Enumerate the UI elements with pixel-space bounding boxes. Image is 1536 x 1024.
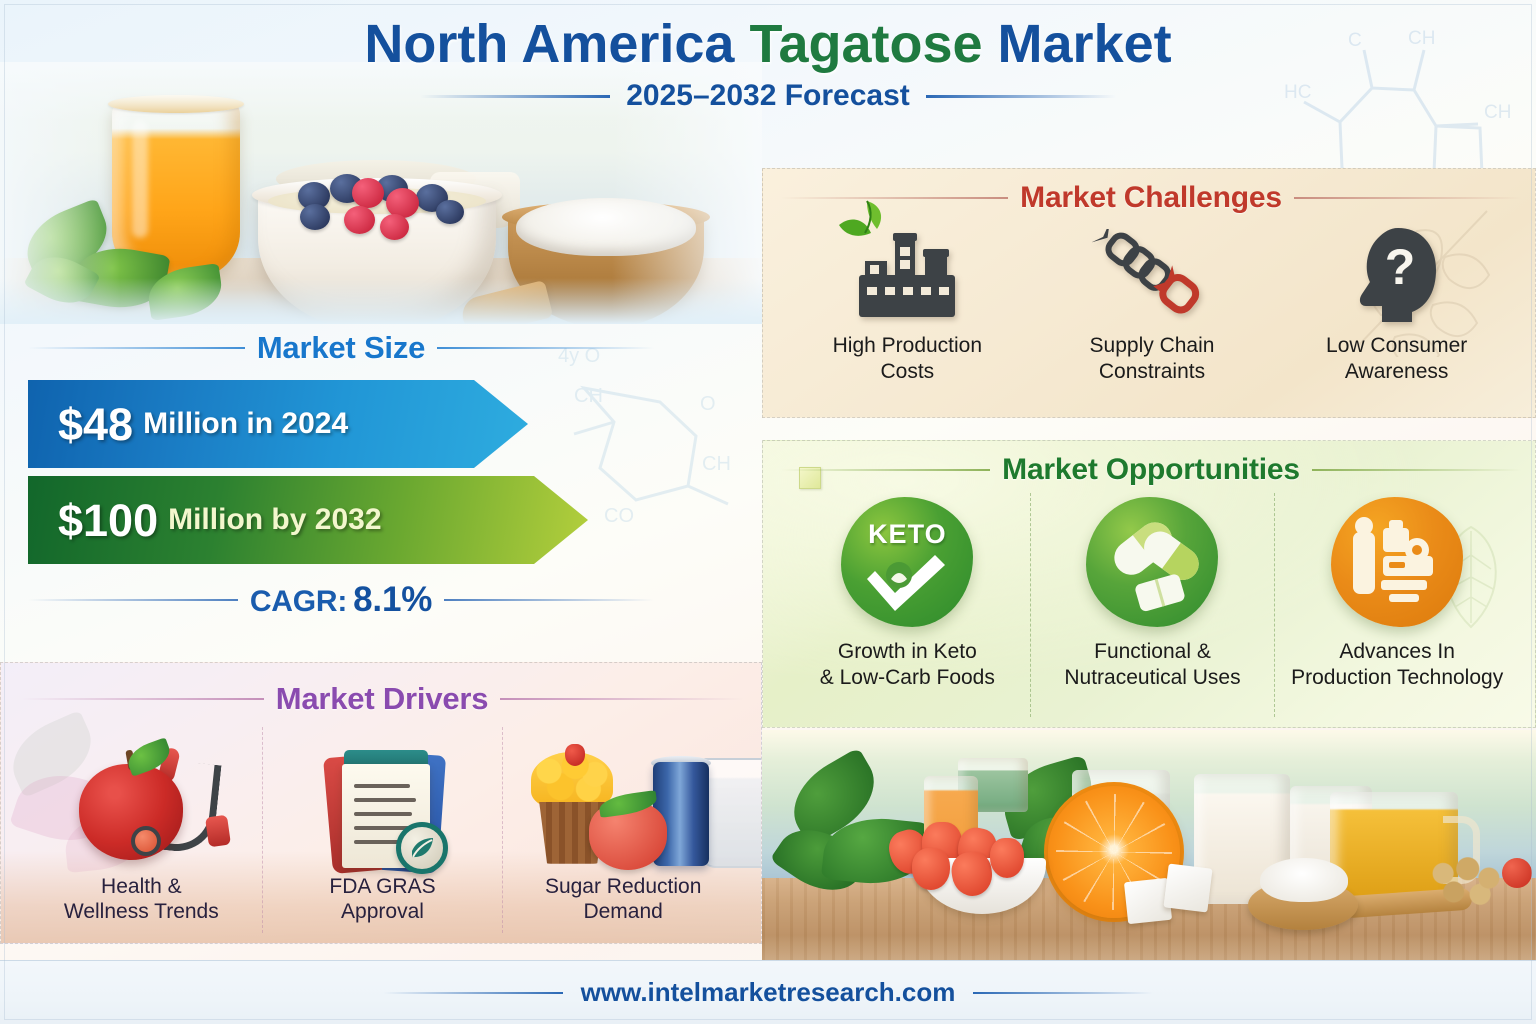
opportunity-item[interactable]: KETO Growth in Keto & Low-Carb Foods (785, 493, 1030, 717)
opportunity-label: Growth in Keto & Low-Carb Foods (820, 639, 995, 692)
market-challenges-items: High Production Costs (785, 223, 1519, 405)
glass-highlight (132, 120, 148, 238)
opportunity-label: Advances In Production Technology (1291, 639, 1503, 692)
heading-rule-left (21, 698, 264, 700)
leaf-check-glyph (409, 835, 435, 861)
driver-item[interactable]: FDA GRAS Approval (262, 727, 503, 933)
raspberry-icon (380, 214, 409, 240)
raspberry-icon (344, 206, 375, 234)
driver-label: Health & Wellness Trends (64, 874, 219, 925)
heading-rule-right (437, 347, 654, 349)
broken-chain-icon (1092, 229, 1212, 321)
raspberry-icon (352, 178, 384, 208)
chem-label-c: C (1348, 30, 1362, 51)
chem-label-ch-top: CH (1408, 28, 1435, 49)
stethoscope-chestpiece (131, 826, 161, 856)
opportunity-art: KETO (841, 497, 973, 627)
driver-item[interactable]: Health & Wellness Trends (21, 727, 262, 933)
footer-bar: www.intelmarketresearch.com (0, 960, 1536, 1024)
production-equipment-icon (1331, 497, 1463, 627)
challenge-item[interactable]: High Production Costs (785, 223, 1030, 405)
sweetener-powder (1260, 858, 1348, 902)
apple-stethoscope-icon (21, 740, 262, 874)
driver-item[interactable]: Sugar Reduction Demand (502, 727, 743, 933)
challenge-label: Supply Chain Constraints (1090, 333, 1215, 386)
title-part-market: Market (983, 14, 1172, 74)
opportunity-art (1086, 497, 1218, 627)
challenge-art (785, 223, 1030, 327)
market-drivers-panel: Market Drivers Health & Wellness Trends (0, 662, 762, 944)
bar-2024-value: $48 (58, 402, 133, 447)
market-size-bar-2032: $100 Million by 2032 (28, 476, 588, 564)
cagr-label: CAGR: (250, 585, 347, 619)
challenge-item[interactable]: ? Low Consumer Awareness (1274, 223, 1519, 405)
bar-2032-label: Million by 2032 (168, 505, 381, 535)
strawberry-icon (990, 838, 1024, 878)
keto-badge-text: KETO (841, 519, 973, 550)
pills-glyph (1097, 509, 1207, 615)
cagr-block: CAGR: 8.1% (250, 580, 432, 620)
challenge-art (1030, 223, 1275, 327)
market-size-bars: $48 Million in 2024 $100 Million by 2032 (28, 380, 654, 564)
opportunity-art (1331, 497, 1463, 627)
cupcake-soda-icon (503, 740, 743, 874)
chem-label-hc: HC (1284, 82, 1311, 103)
title-part-product: Tagatose (749, 14, 982, 74)
market-size-section: Market Size $48 Million in 2024 $100 Mil… (28, 330, 654, 620)
market-size-heading-row: Market Size (28, 330, 654, 366)
cagr-rule-left (28, 599, 238, 601)
market-challenges-panel: Market Challenges (762, 168, 1536, 418)
heading-rule-left (781, 469, 990, 471)
driver-label: Sugar Reduction Demand (545, 874, 701, 925)
bar-2024-label: Million in 2024 (143, 409, 348, 439)
equipment-glyph (1345, 514, 1449, 610)
challenge-item[interactable]: Supply Chain Constraints (1030, 223, 1275, 405)
keto-badge-icon: KETO (841, 497, 973, 627)
chem-label-ch3: CH (702, 453, 731, 475)
challenge-label: High Production Costs (833, 333, 982, 386)
footer-website-url[interactable]: www.intelmarketresearch.com (581, 977, 956, 1008)
infographic-canvas: HC C CH CH N CH 4y O CH O CH CO (0, 0, 1536, 1024)
market-opportunities-items: KETO Growth in Keto & Low-Carb Foods (785, 493, 1519, 717)
subtitle-rule-right (926, 95, 1116, 98)
heading-rule-left (28, 347, 245, 349)
market-size-heading: Market Size (257, 330, 425, 366)
sugar-cube-icon (1163, 863, 1212, 912)
approval-seal-icon (396, 822, 448, 874)
nuts-icon (1422, 856, 1510, 914)
market-opportunities-panel: Market Opportunities KETO Growth in Keto… (762, 440, 1536, 728)
heading-rule-left (781, 197, 1008, 199)
chem-label-ch-right: CH (1484, 102, 1511, 123)
hero-food-photo (0, 62, 762, 324)
opportunity-label: Functional & Nutraceutical Uses (1064, 639, 1240, 692)
bar-2032-value: $100 (58, 498, 158, 543)
market-size-bar-2024: $48 Million in 2024 (28, 380, 528, 468)
blueberry-icon (300, 204, 330, 230)
stethoscope-earpiece (205, 814, 231, 847)
challenge-label: Low Consumer Awareness (1326, 333, 1467, 386)
ingredients-food-photo (762, 730, 1536, 960)
photo-fade-bottom (0, 278, 762, 324)
market-drivers-heading: Market Drivers (276, 681, 489, 717)
cupcake-cherry (565, 744, 585, 766)
glass-pitcher-icon (701, 758, 762, 868)
footer-rule-left (383, 992, 563, 994)
market-drivers-items: Health & Wellness Trends (21, 727, 743, 933)
market-challenges-heading: Market Challenges (1020, 181, 1282, 215)
cagr-value: 8.1% (353, 580, 432, 620)
heading-rule-right (1312, 469, 1521, 471)
opportunity-item[interactable]: Functional & Nutraceutical Uses (1030, 493, 1275, 717)
approved-document-icon (263, 740, 503, 874)
cherry-icon (1502, 858, 1532, 888)
market-opportunities-heading-row: Market Opportunities (781, 453, 1521, 487)
market-drivers-heading-row: Market Drivers (21, 681, 743, 717)
heading-rule-right (500, 698, 743, 700)
market-challenges-heading-row: Market Challenges (781, 181, 1521, 215)
blueberry-icon (436, 200, 464, 224)
factory-icon (855, 229, 959, 321)
strawberry-icon (912, 848, 950, 890)
cagr-row: CAGR: 8.1% (28, 580, 654, 620)
cagr-rule-right (444, 599, 654, 601)
chem-label-o2: O (700, 393, 716, 415)
opportunity-item[interactable]: Advances In Production Technology (1274, 493, 1519, 717)
driver-label: FDA GRAS Approval (329, 874, 435, 925)
footer-rule-right (973, 992, 1153, 994)
head-question-icon: ? (1352, 226, 1442, 324)
check-mark-icon (861, 553, 953, 615)
heading-rule-right (1294, 197, 1521, 199)
challenge-art: ? (1274, 223, 1519, 327)
capsule-pills-icon (1086, 497, 1218, 627)
svg-text:?: ? (1384, 239, 1415, 295)
market-opportunities-heading: Market Opportunities (1002, 453, 1300, 487)
